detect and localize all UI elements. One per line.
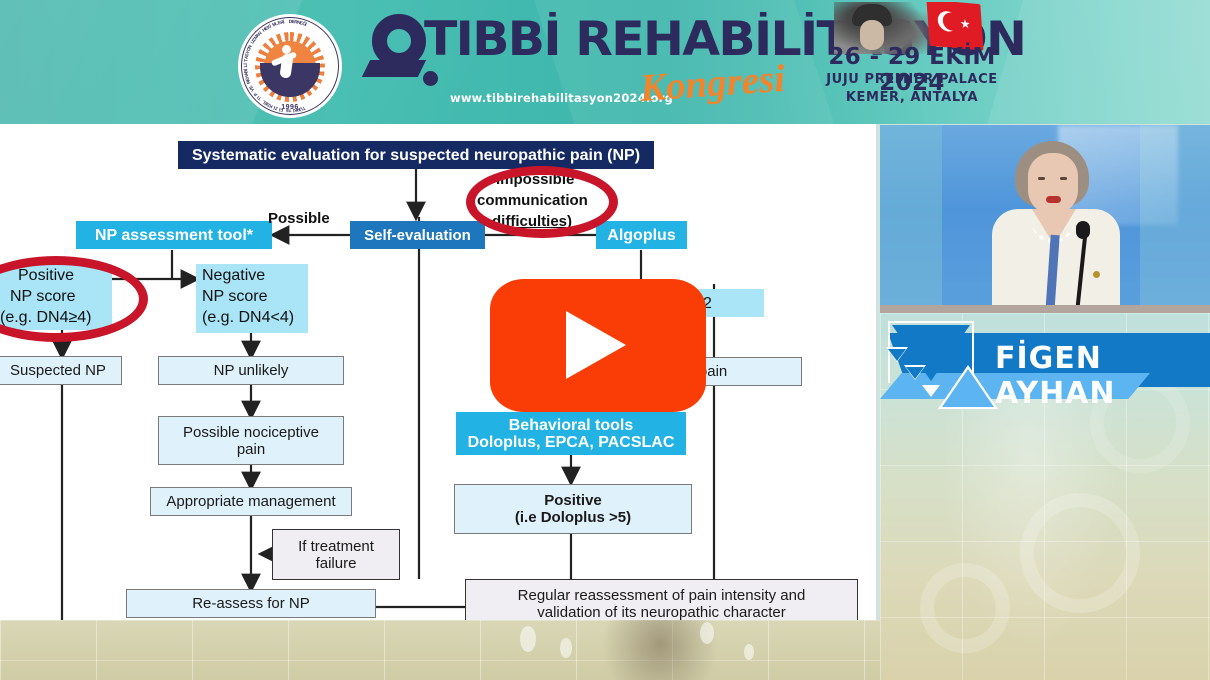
congress-banner: 1996 TÜRKİYE FİZİKSEL TIP VE REHABİLİTAS…: [0, 0, 1210, 124]
bottom-bubble-1: [520, 626, 536, 652]
possible-nociceptive-line2: pain: [237, 441, 265, 458]
flow-label-possible: Possible: [268, 210, 330, 227]
speaker-eye-right: [1060, 177, 1067, 180]
speaker-info-panel: FİGEN AYHAN: [880, 313, 1210, 680]
flow-box-regular-reassessment: Regular reassessment of pain intensity a…: [465, 579, 858, 620]
flow-box-title: Systematic evaluation for suspected neur…: [178, 141, 654, 169]
if-treatment-failure-line2: failure: [316, 555, 357, 572]
if-treatment-failure-line1: If treatment: [298, 538, 374, 555]
flow-box-appropriate-management: Appropriate management: [150, 487, 352, 516]
regular-reassessment-line2: validation of its neuropathic character: [537, 604, 785, 620]
presentation-slide: Systematic evaluation for suspected neur…: [0, 124, 876, 620]
flow-box-algoplus: Algoplus: [596, 221, 687, 249]
behavioral-tools-line1: Behavioral tools: [509, 417, 633, 434]
congress-dates: 26 - 29 EKİM 2024: [822, 44, 1002, 96]
flow-box-suspected-np: Suspected NP: [0, 356, 122, 385]
flow-box-possible-nociceptive-pain: Possible nociceptive pain: [158, 416, 344, 465]
highlight-ellipse-positive-np-score: [0, 256, 148, 342]
bottom-bubble-3: [700, 622, 714, 644]
flow-box-np-assessment-tool: NP assessment tool*: [76, 221, 272, 249]
nine-dot: [423, 71, 438, 86]
video-wall-left: [880, 125, 942, 313]
association-logo-text: TÜRKİYE FİZİKSEL TIP VE REHABİLİTASYON U…: [238, 14, 342, 118]
speaker-lapel-pin: [1093, 271, 1100, 278]
bottom-bubble-2: [560, 638, 572, 658]
podium-edge: [880, 305, 1210, 313]
nameplate-triangle-up-icon: [942, 369, 994, 407]
mini-triangle-a-icon: [888, 349, 906, 361]
flow-box-self-evaluation: Self-evaluation: [350, 221, 485, 249]
association-logo: 1996 TÜRKİYE FİZİKSEL TIP VE REHABİLİTAS…: [238, 14, 342, 118]
behavioral-tools-line2: Doloplus, EPCA, PACSLAC: [468, 434, 675, 451]
negative-np-score-line3: (e.g. DN4<4): [202, 309, 294, 327]
positive-doloplus-line2: (i.e Doloplus >5): [515, 509, 631, 526]
positive-doloplus-line1: Positive: [544, 492, 602, 509]
speaker-face: [1028, 153, 1078, 215]
nine-tail: [362, 60, 426, 77]
negative-np-score-line2: NP score: [202, 288, 268, 306]
flow-box-positive-doloplus: Positive (i.e Doloplus >5): [454, 484, 692, 534]
negative-np-score-line1: Negative: [202, 267, 265, 285]
regular-reassessment-line1: Regular reassessment of pain intensity a…: [518, 587, 806, 604]
screen-root: 1996 TÜRKİYE FİZİKSEL TIP VE REHABİLİTAS…: [0, 0, 1210, 680]
speaker-eye-left: [1038, 177, 1045, 180]
microphone-icon: [1076, 221, 1090, 239]
flow-box-np-unlikely: NP unlikely: [158, 356, 344, 385]
speaker-lips: [1046, 196, 1061, 203]
panel-ghost-ring-2: [920, 563, 1010, 653]
congress-venue-line1: JUJU PREMIER PALACE: [812, 72, 1012, 87]
flowchart: Systematic evaluation for suspected neur…: [0, 124, 876, 620]
speaker-video[interactable]: [880, 125, 1210, 313]
flow-box-negative-np-score: Negative NP score (e.g. DN4<4): [196, 264, 308, 333]
flow-box-behavioral-tools: Behavioral tools Doloplus, EPCA, PACSLAC: [456, 412, 686, 455]
highlight-ellipse-impossible: [466, 166, 618, 238]
slide-bottom-decoration: [0, 620, 880, 680]
possible-nociceptive-line1: Possible nociceptive: [183, 424, 319, 441]
flow-box-re-assess-for-np: Re-assess for NP: [126, 589, 376, 618]
bottom-bubble-4: [744, 644, 754, 660]
flow-box-if-treatment-failure: If treatment failure: [272, 529, 400, 580]
congress-venue-line2: KEMER, ANTALYA: [812, 90, 1012, 105]
mini-triangle-b-icon: [906, 367, 924, 379]
play-triangle-icon: [566, 311, 626, 379]
play-button[interactable]: [490, 279, 706, 412]
speaker-name: FİGEN AYHAN: [995, 341, 1210, 411]
flag-star-icon: ★: [959, 17, 971, 30]
panel-ghost-ring-1: [1020, 493, 1140, 613]
mini-triangle-c-icon: [922, 385, 940, 397]
